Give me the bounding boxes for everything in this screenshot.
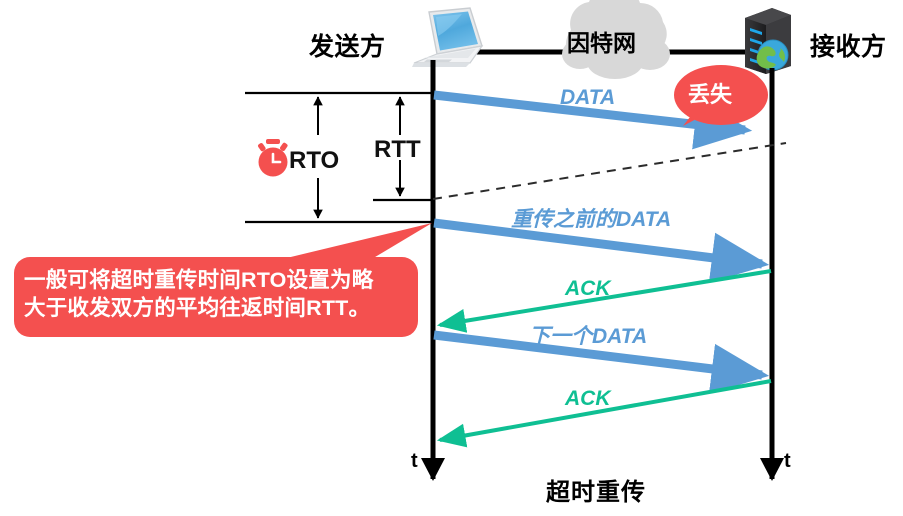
message-label-data-2: 下一个DATA	[529, 325, 647, 349]
sender-label: 发送方	[309, 33, 386, 62]
receiver-axis-time-label: t	[784, 450, 791, 473]
callout-text: 一般可将超时重传时间RTO设置为略 大于收发双方的平均往返时间RTT。	[24, 266, 404, 323]
diagram-graphics	[0, 0, 903, 516]
message-label-data-1: DATA	[560, 86, 615, 110]
expected-ack-dashed-line	[433, 143, 786, 199]
stopwatch-icon	[257, 139, 288, 177]
diagram-caption: 超时重传	[546, 479, 646, 507]
rto-label: RTO	[289, 147, 339, 175]
server-icon	[745, 8, 791, 74]
rtt-label: RTT	[374, 136, 421, 164]
sender-axis-time-label: t	[411, 450, 418, 473]
diagram-canvas: 发送方 接收方 因特网 丢失 RTO RTT DATA 重传之前的DATA AC…	[0, 0, 903, 516]
message-label-ack-2: ACK	[565, 387, 611, 411]
message-label-ack-1: ACK	[565, 277, 611, 301]
network-label: 因特网	[567, 30, 636, 56]
callout-line-2: 大于收发双方的平均往返时间RTT。	[24, 294, 404, 322]
callout-line-1: 一般可将超时重传时间RTO设置为略	[24, 266, 404, 294]
message-label-retransmit-data: 重传之前的DATA	[511, 208, 671, 232]
lost-bubble-label: 丢失	[688, 82, 732, 107]
laptop-icon	[412, 8, 482, 67]
receiver-label: 接收方	[810, 33, 887, 62]
